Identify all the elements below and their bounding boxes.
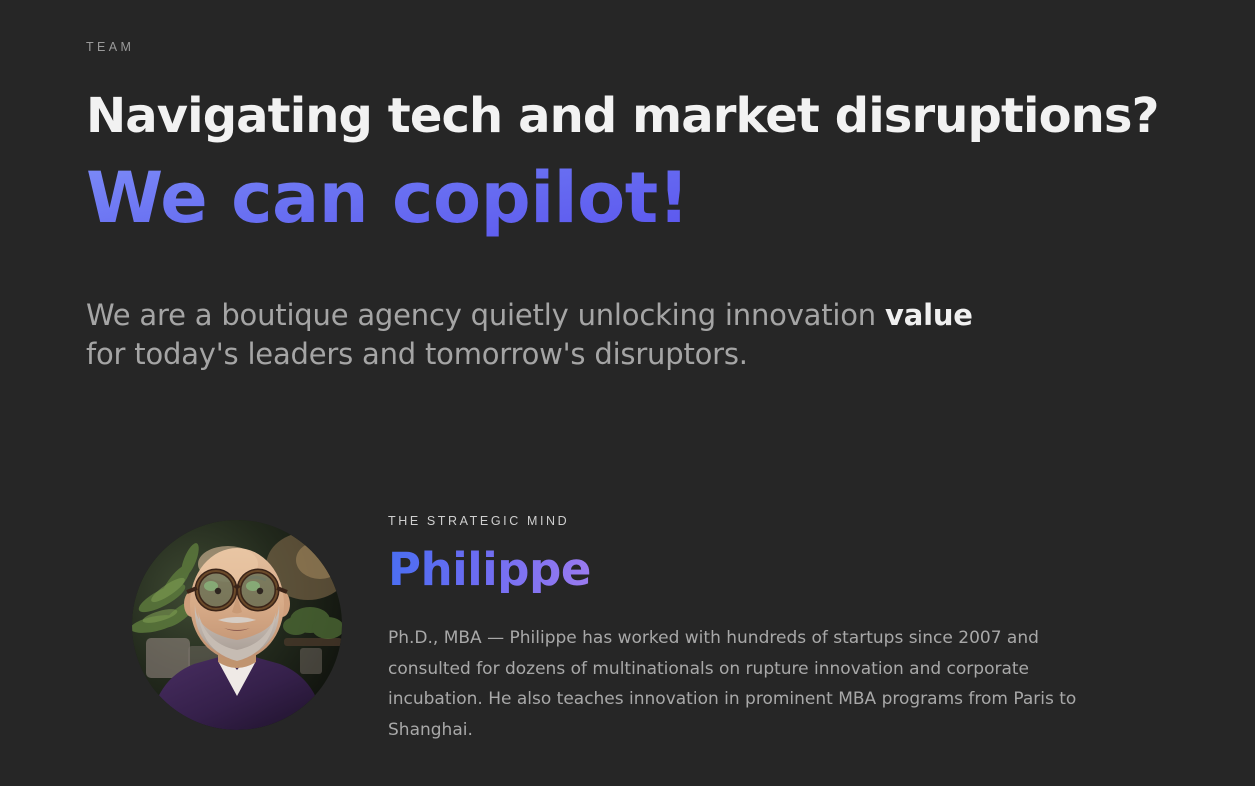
avatar: [132, 520, 342, 730]
portrait-photo-icon: [132, 520, 342, 730]
subhead-text-lead: We are a boutique agency quietly unlocki…: [86, 298, 885, 332]
member-bio: Ph.D., MBA — Philippe has worked with hu…: [388, 623, 1104, 745]
member-role-label: THE STRATEGIC MIND: [388, 514, 1166, 528]
subhead-accent-word: value: [885, 298, 973, 332]
section-eyebrow-label: TEAM: [86, 40, 134, 54]
avatar-container: [86, 505, 388, 730]
team-member-card: THE STRATEGIC MIND Philippe Ph.D., MBA —…: [86, 505, 1166, 746]
team-section-page: TEAM Navigating tech and market disrupti…: [0, 0, 1255, 786]
member-name: Philippe: [388, 546, 591, 593]
subhead-text-tail: for today's leaders and tomorrow's disru…: [86, 337, 748, 371]
member-details: THE STRATEGIC MIND Philippe Ph.D., MBA —…: [388, 505, 1166, 746]
hero-subheadline: We are a boutique agency quietly unlocki…: [86, 296, 986, 374]
hero-headline-accent: We can copilot!: [86, 157, 689, 239]
hero-headline-primary: Navigating tech and market disruptions?: [86, 88, 1159, 144]
